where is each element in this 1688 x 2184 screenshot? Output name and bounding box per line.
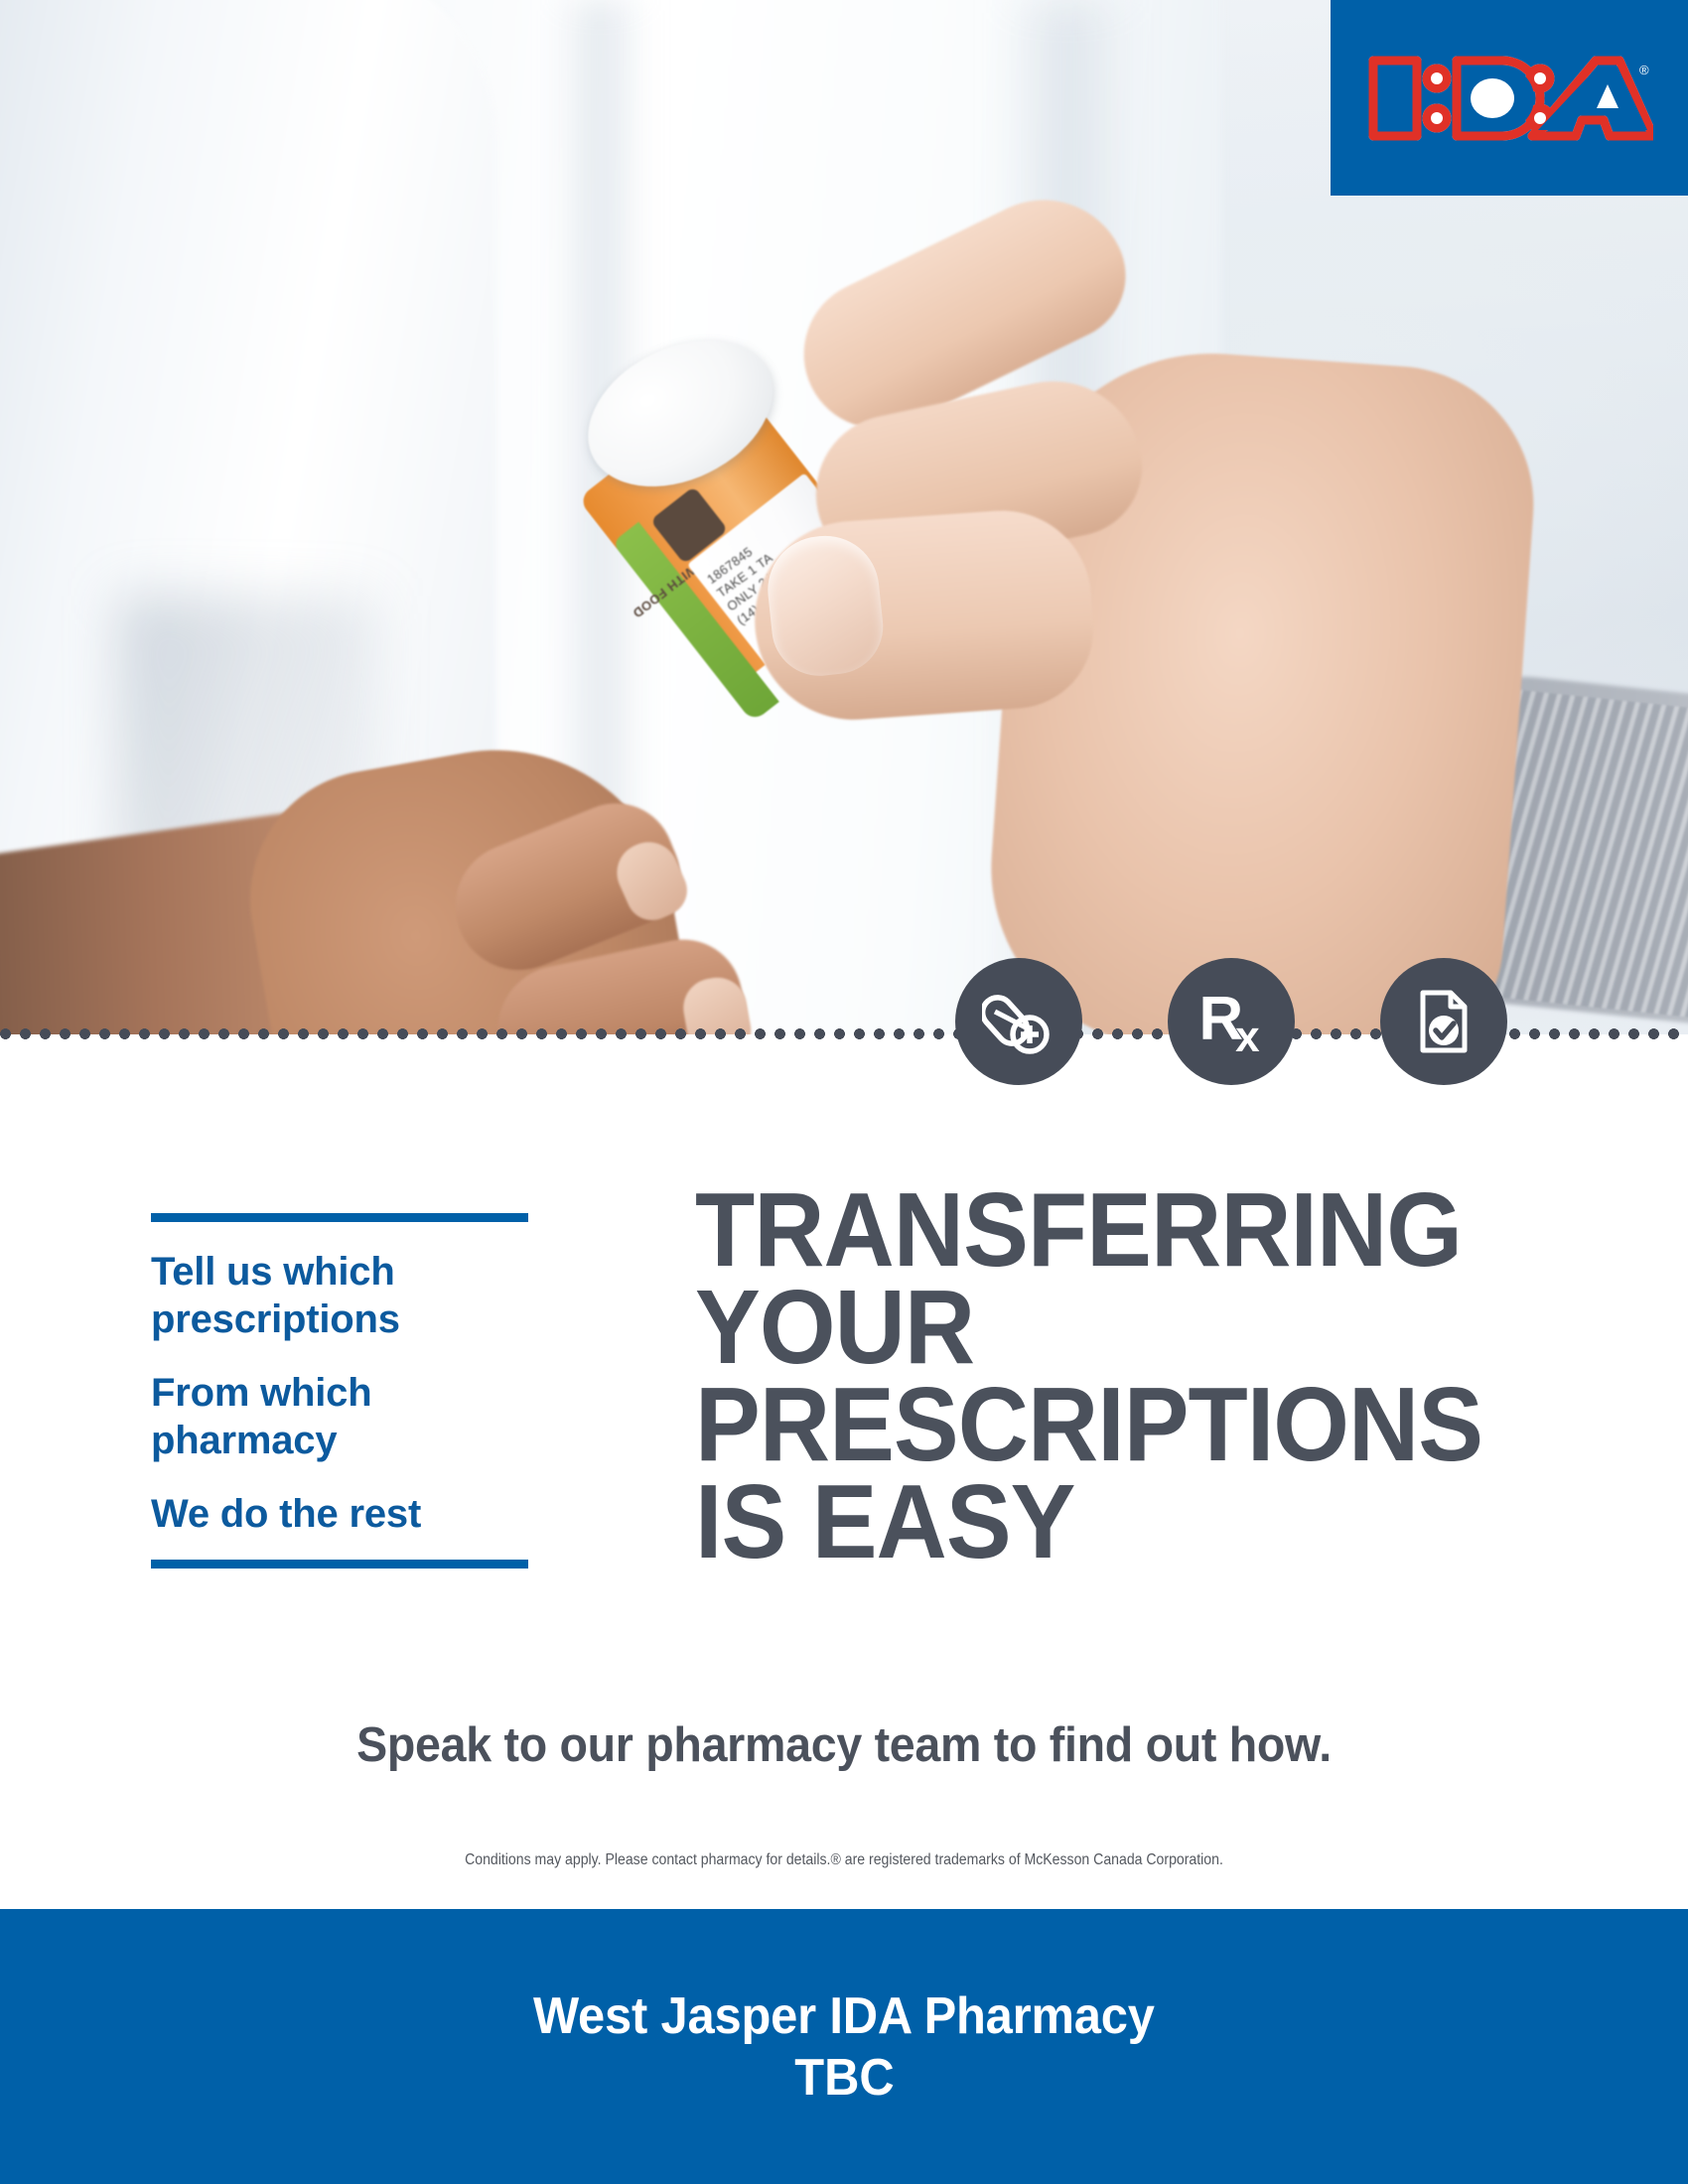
disclaimer-text: Conditions may apply. Please contact pha…	[101, 1851, 1587, 1869]
step-item-3: We do the rest	[151, 1490, 528, 1538]
ida-logo-mark: ®	[1365, 49, 1653, 148]
headline-line-3: PRESCRIPTIONS	[695, 1376, 1526, 1473]
content-area: Tell us which prescriptions From which p…	[0, 1034, 1688, 1909]
ida-logo: ®	[1331, 0, 1688, 196]
steps-block: Tell us which prescriptions From which p…	[151, 1213, 528, 1569]
headline-line-1: TRANSFERRING	[695, 1181, 1526, 1279]
step-item-1: Tell us which prescriptions	[151, 1248, 528, 1343]
pharmacy-location: TBC	[794, 2047, 894, 2109]
rx-sub: x	[1235, 1013, 1257, 1061]
poster-root: TAKE WITH FOOD 1867845 TAKE 1 TA ONLY 2 …	[0, 0, 1688, 2184]
pills-plus-glyph	[982, 985, 1055, 1058]
steps-list: Tell us which prescriptions From which p…	[151, 1222, 528, 1560]
subheading: Speak to our pharmacy team to find out h…	[43, 1717, 1646, 1773]
rx-icon: Rx	[1168, 958, 1295, 1085]
document-check-glyph	[1407, 985, 1480, 1058]
step-item-2: From which pharmacy	[151, 1369, 528, 1464]
registered-mark: ®	[1639, 63, 1649, 77]
rx-glyph: Rx	[1198, 989, 1263, 1050]
document-check-icon	[1380, 958, 1507, 1085]
footer-bar: West Jasper IDA Pharmacy TBC	[0, 1909, 1688, 2184]
steps-rule-bottom	[151, 1560, 528, 1569]
steps-rule-top	[151, 1213, 528, 1222]
headline-line-2: YOUR	[695, 1279, 1526, 1376]
pharmacy-name: West Jasper IDA Pharmacy	[533, 1985, 1155, 2047]
pills-plus-icon	[955, 958, 1082, 1085]
page-title: TRANSFERRING YOUR PRESCRIPTIONS IS EASY	[695, 1181, 1526, 1570]
headline-line-4: IS EASY	[695, 1473, 1526, 1570]
